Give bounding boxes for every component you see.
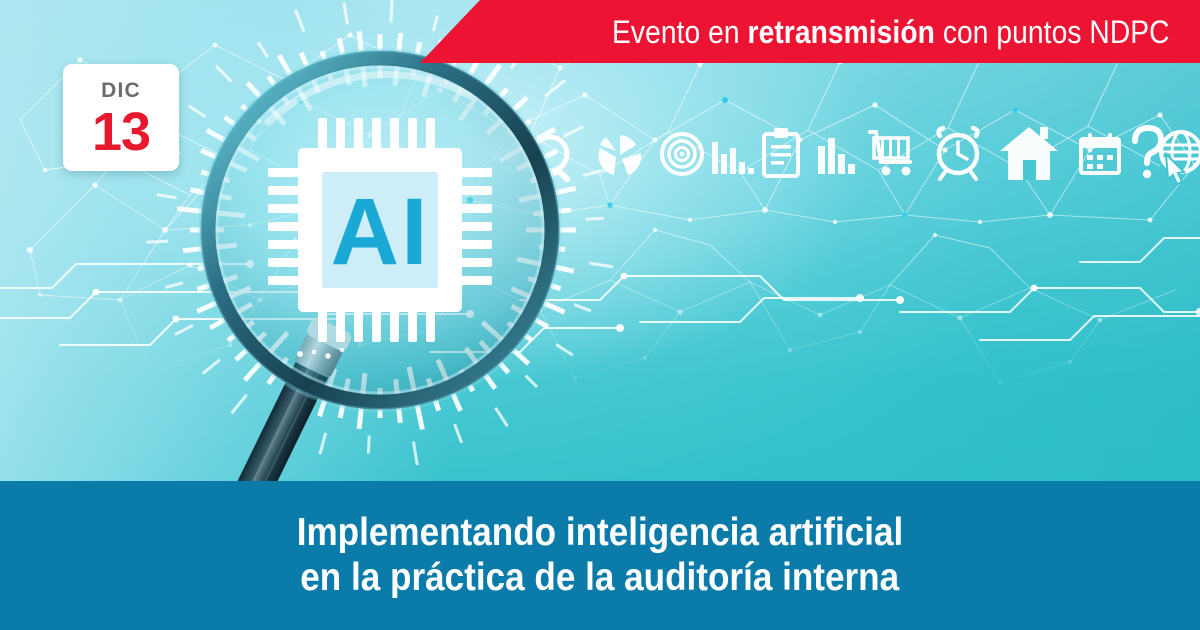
bar-chart-icon xyxy=(712,142,754,174)
date-badge: DIC 13 xyxy=(63,64,179,171)
clipboard-icon xyxy=(764,128,798,176)
target-icon xyxy=(662,134,702,174)
date-badge-day: 13 xyxy=(92,105,150,159)
event-ribbon-text: Evento en retransmisión con puntos NDPC xyxy=(612,16,1170,48)
ai-chip: AI xyxy=(268,118,492,342)
ribbon-text-prefix: Evento en xyxy=(612,14,748,50)
bar-chart-2-icon xyxy=(818,138,855,174)
date-badge-month: DIC xyxy=(101,80,141,101)
event-banner: 01010101 10110010 01001101 11010110 0010… xyxy=(0,0,1200,630)
question-mark-icon xyxy=(1135,128,1161,178)
ribbon-text-strong: retransmisión xyxy=(748,14,935,50)
event-ribbon: Evento en retransmisión con puntos NDPC xyxy=(420,0,1200,63)
alarm-clock-icon xyxy=(939,128,978,179)
event-title-line-1: Implementando inteligencia artificial xyxy=(297,511,904,555)
globe-cursor-icon xyxy=(1161,132,1200,184)
event-title-bar: Implementando inteligencia artificial en… xyxy=(0,481,1200,630)
calendar-icon xyxy=(1081,133,1119,173)
ribbon-text-suffix: con puntos NDPC xyxy=(935,14,1170,50)
pie-chart-icon xyxy=(599,135,642,175)
chip-ai-label: AI xyxy=(331,179,430,285)
event-title-line-2: en la práctica de la auditoría interna xyxy=(301,556,900,600)
house-icon xyxy=(1000,127,1058,180)
